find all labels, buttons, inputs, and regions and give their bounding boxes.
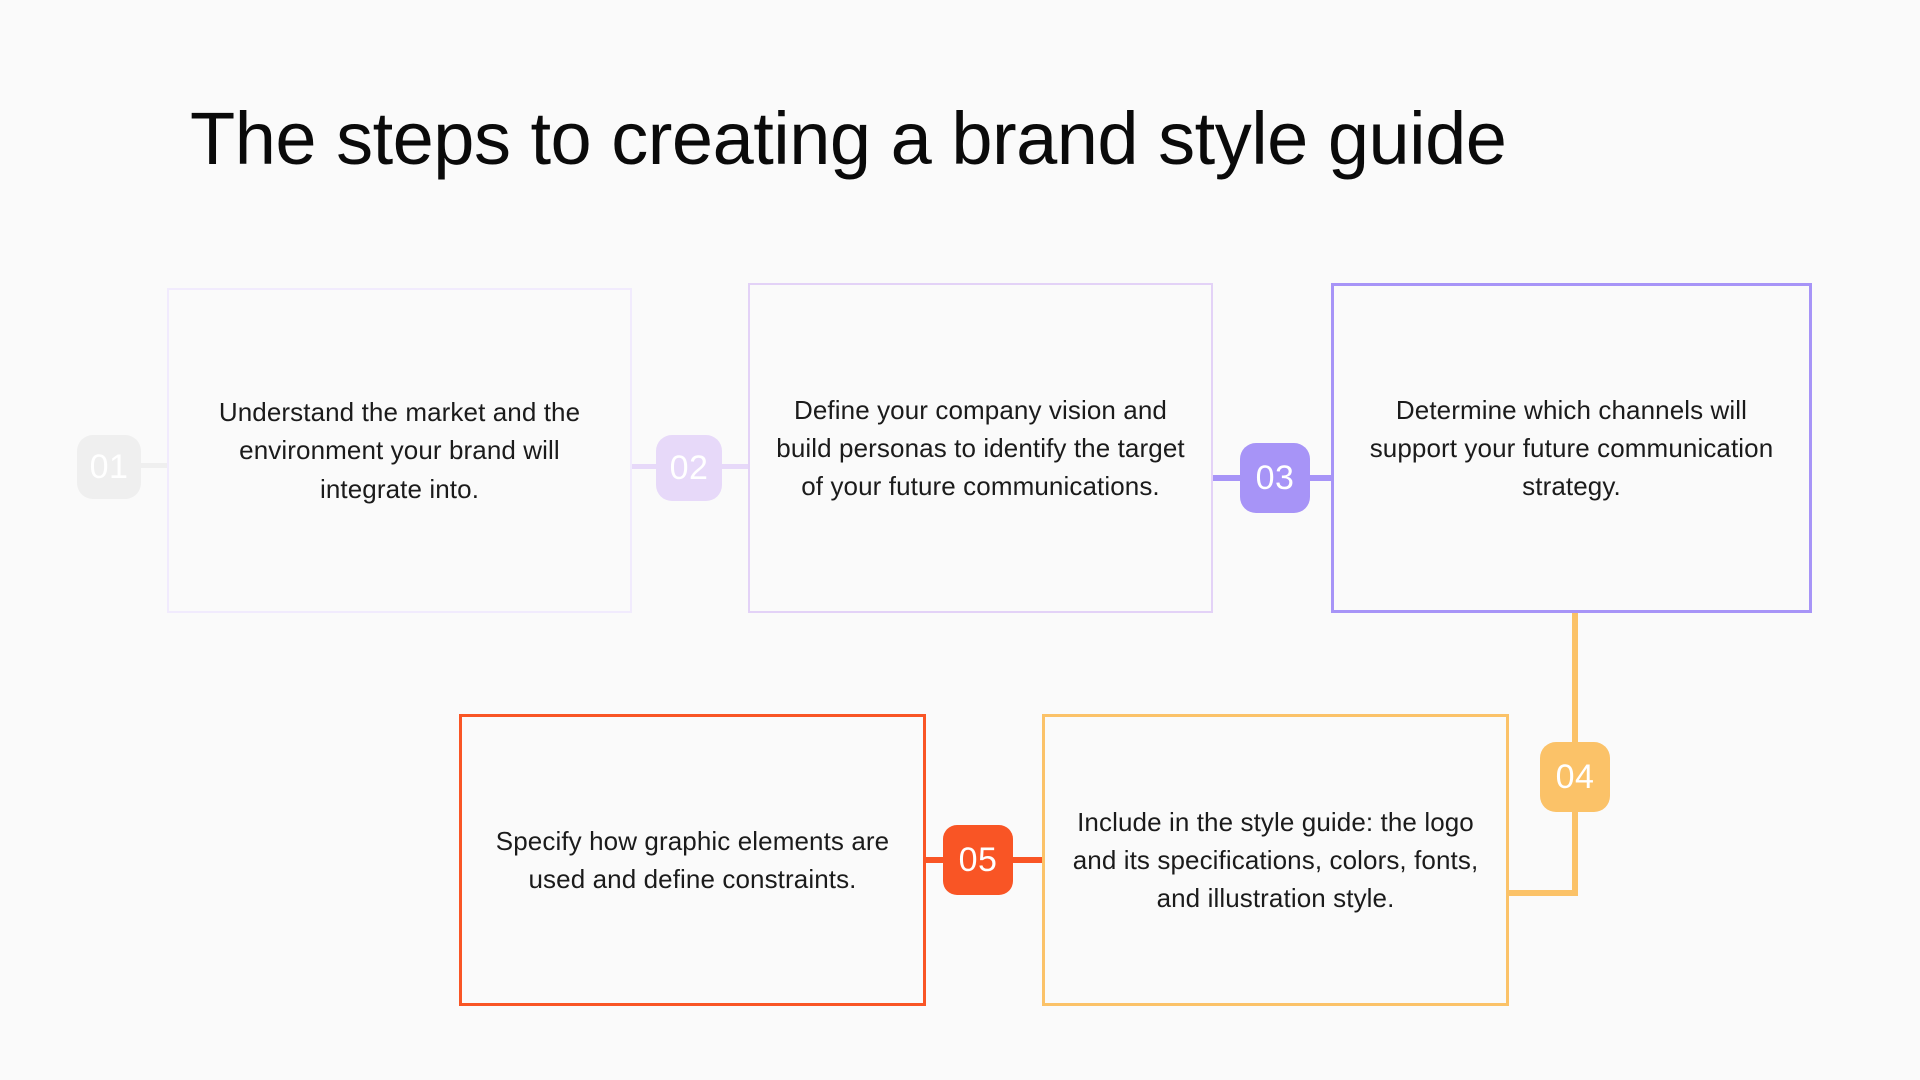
- step-text-03: Determine which channels will support yo…: [1334, 391, 1809, 506]
- connector-box02-to-badge03: [1210, 475, 1244, 481]
- infographic-canvas: The steps to creating a brand style guid…: [0, 0, 1920, 1080]
- connector-badge04-down: [1572, 808, 1578, 896]
- connector-badge01-to-box01: [140, 463, 170, 468]
- step-text-01: Understand the market and the environmen…: [169, 393, 630, 508]
- step-badge-04[interactable]: 04: [1540, 742, 1610, 812]
- step-text-02: Define your company vision and build per…: [750, 391, 1211, 506]
- step-badge-02[interactable]: 02: [656, 435, 722, 501]
- step-box-05: Specify how graphic elements are used an…: [459, 714, 926, 1006]
- connector-elbow-to-box04: [1503, 890, 1578, 896]
- connector-box04-to-badge05: [1010, 857, 1046, 863]
- step-text-05: Specify how graphic elements are used an…: [462, 822, 923, 898]
- connector-box03-down-to-badge04: [1572, 610, 1578, 746]
- page-title: The steps to creating a brand style guid…: [190, 98, 1750, 181]
- step-box-03: Determine which channels will support yo…: [1331, 283, 1812, 613]
- step-badge-01[interactable]: 01: [77, 435, 141, 499]
- step-box-02: Define your company vision and build per…: [748, 283, 1213, 613]
- step-badge-05[interactable]: 05: [943, 825, 1013, 895]
- step-box-04: Include in the style guide: the logo and…: [1042, 714, 1509, 1006]
- step-badge-03[interactable]: 03: [1240, 443, 1310, 513]
- connector-badge02-to-box02: [718, 464, 752, 469]
- step-box-01: Understand the market and the environmen…: [167, 288, 632, 613]
- step-text-04: Include in the style guide: the logo and…: [1045, 803, 1506, 918]
